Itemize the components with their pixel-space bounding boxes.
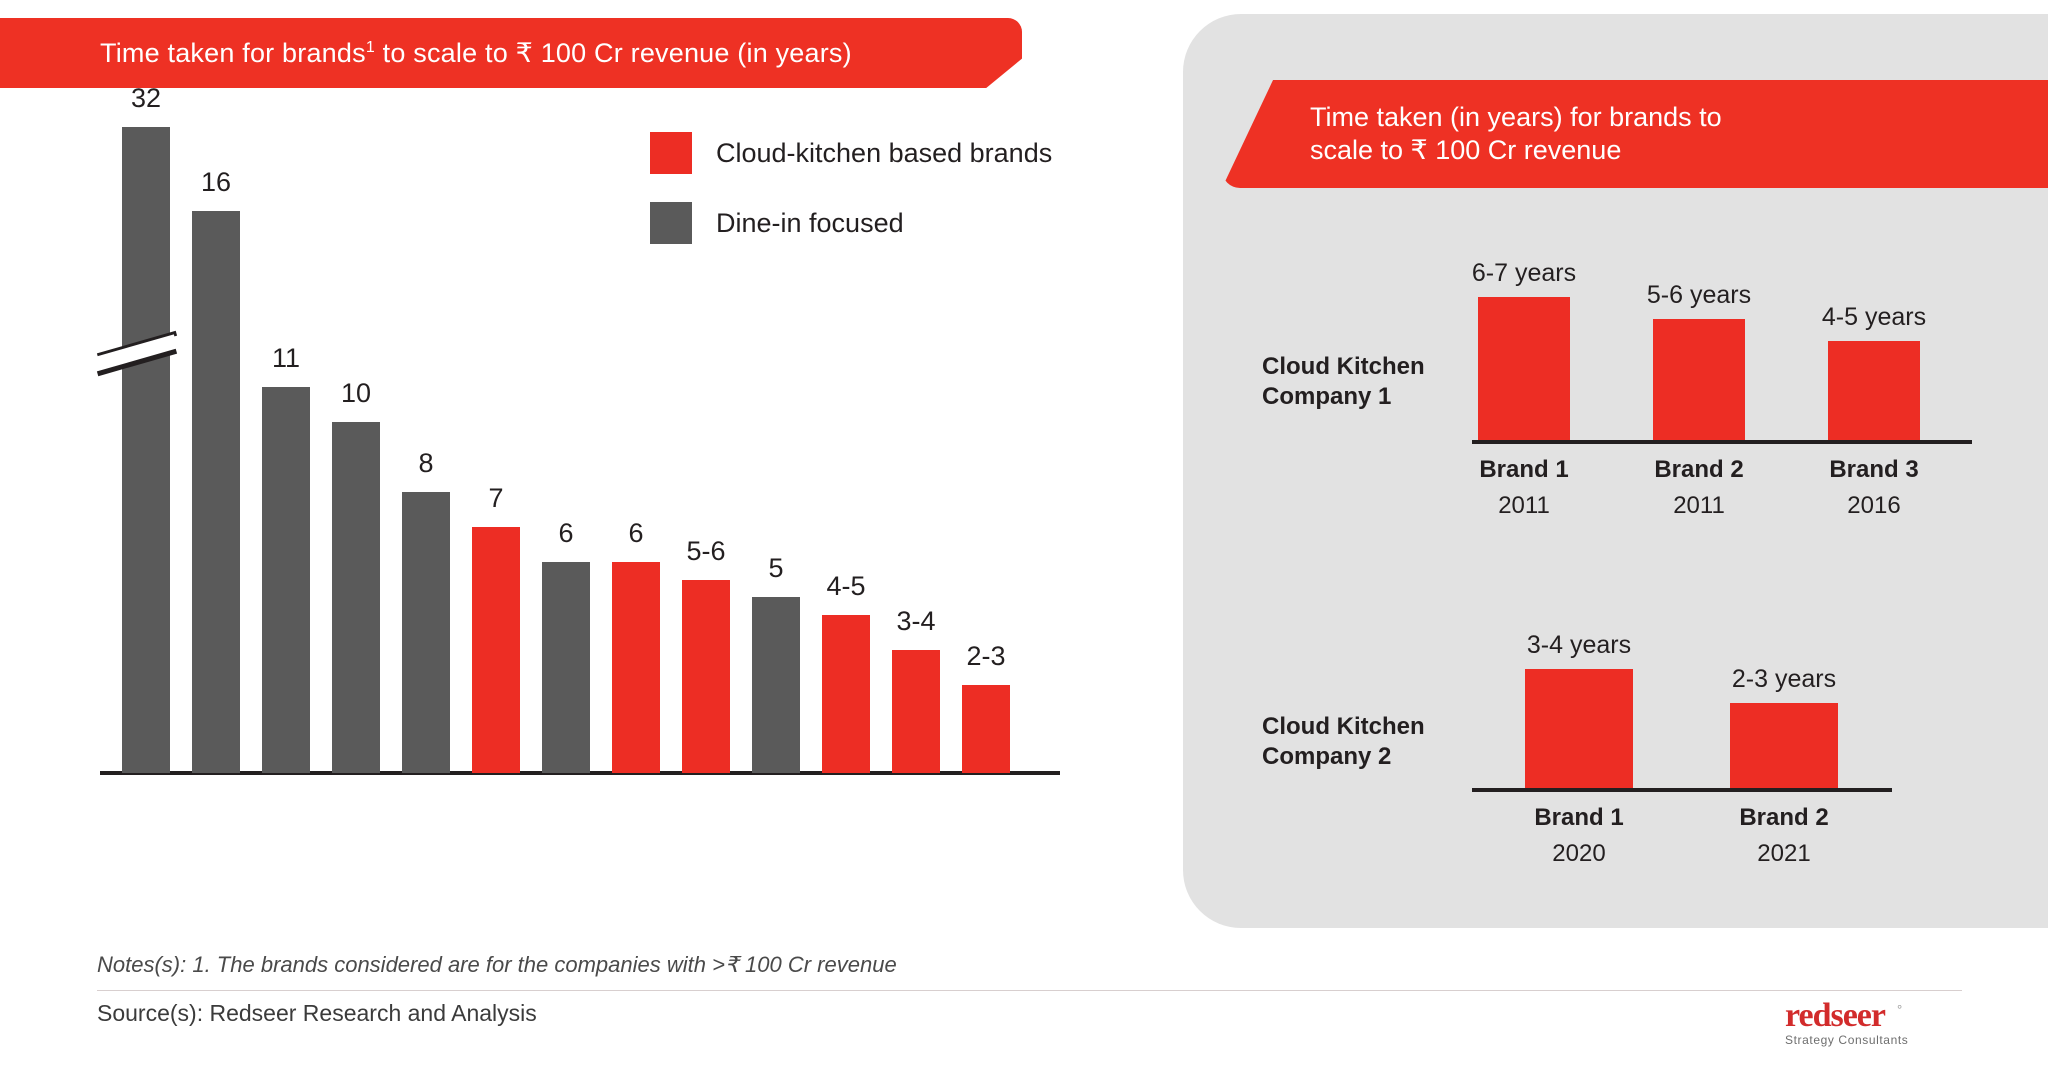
- bar-value-label: 5: [768, 553, 783, 584]
- redseer-logo: redseer Strategy Consultants °: [1785, 1000, 1908, 1047]
- right-bar-value-label: 5-6 years: [1647, 281, 1751, 310]
- left-chart-bar[interactable]: 7: [472, 527, 520, 773]
- bar-fill: [752, 597, 800, 773]
- bar-value-label: 7: [488, 483, 503, 514]
- right-bar-year: 2011: [1498, 492, 1550, 520]
- right-title-banner: Time taken (in years) for brands to scal…: [1222, 80, 2048, 188]
- right-chart-bar[interactable]: [1525, 669, 1633, 788]
- bar-fill: [472, 527, 520, 773]
- axis-break-icon: [96, 320, 176, 372]
- right-bar-year: 2020: [1552, 840, 1605, 868]
- left-chart-bar[interactable]: 11: [262, 387, 310, 773]
- slide-root: Time taken for brands1 to scale to ₹ 100…: [0, 0, 2048, 1074]
- bar-fill: [122, 127, 170, 773]
- right-bar-value-label: 2-3 years: [1732, 665, 1836, 694]
- left-chart-bar[interactable]: 8: [402, 492, 450, 773]
- left-chart-bar[interactable]: 6: [612, 562, 660, 773]
- bar-value-label: 8: [418, 448, 433, 479]
- right-bar-value-label: 6-7 years: [1472, 259, 1576, 288]
- bar-value-label: 6: [558, 518, 573, 549]
- left-chart-bar[interactable]: 5: [752, 597, 800, 773]
- right-bar-year: 2021: [1757, 840, 1810, 868]
- logo-trademark-icon: °: [1897, 1002, 1902, 1017]
- bar-value-label: 4-5: [826, 571, 865, 602]
- bar-value-label: 11: [272, 343, 300, 374]
- right-bar-brand-name: Brand 2: [1654, 456, 1743, 484]
- bar-fill: [612, 562, 660, 773]
- bar-value-label: 6: [628, 518, 643, 549]
- bar-fill: [962, 685, 1010, 773]
- left-chart-title: Time taken for brands1 to scale to ₹ 100…: [0, 38, 852, 69]
- bar-fill: [262, 387, 310, 773]
- bar-fill: [892, 650, 940, 773]
- right-chart-title: Time taken (in years) for brands to scal…: [1222, 101, 1722, 167]
- left-chart-bar[interactable]: 4-5: [822, 615, 870, 773]
- logo-tagline: Strategy Consultants: [1785, 1033, 1908, 1047]
- right-chart-bar[interactable]: [1828, 341, 1920, 440]
- bar-fill: [192, 211, 240, 773]
- footer-divider: [97, 990, 1962, 991]
- left-chart-bar[interactable]: 16: [192, 211, 240, 773]
- right-bar-year: 2016: [1847, 492, 1900, 520]
- left-chart-legend: Cloud-kitchen based brandsDine-in focuse…: [650, 132, 1052, 272]
- legend-label: Cloud-kitchen based brands: [716, 138, 1052, 169]
- legend-item[interactable]: Cloud-kitchen based brands: [650, 132, 1052, 174]
- bar-value-label: 10: [341, 378, 371, 409]
- bar-value-label: 3-4: [896, 606, 935, 637]
- right-bar-brand-name: Brand 1: [1534, 804, 1623, 832]
- right-bar-brand-name: Brand 1: [1479, 456, 1568, 484]
- legend-label: Dine-in focused: [716, 208, 904, 239]
- bar-fill: [332, 422, 380, 773]
- right-group-label: Cloud Kitchen Company 2: [1262, 712, 1425, 772]
- bar-fill: [542, 562, 590, 773]
- bar-value-label: 2-3: [966, 641, 1005, 672]
- left-chart-bar[interactable]: 6: [542, 562, 590, 773]
- logo-wordmark: redseer: [1785, 1000, 1908, 1032]
- right-chart-bar[interactable]: [1730, 703, 1838, 788]
- source-text: Source(s): Redseer Research and Analysis: [97, 1000, 537, 1027]
- legend-swatch-icon: [650, 202, 692, 244]
- left-chart-bar[interactable]: 2-3: [962, 685, 1010, 773]
- notes-text: Notes(s): 1. The brands considered are f…: [97, 952, 897, 978]
- left-chart-bar[interactable]: 5-6: [682, 580, 730, 773]
- left-title-post: to scale to ₹ 100 Cr revenue (in years): [375, 38, 852, 68]
- left-title-footnote-marker: 1: [366, 39, 375, 56]
- right-bar-value-label: 3-4 years: [1527, 631, 1631, 660]
- left-title-banner: Time taken for brands1 to scale to ₹ 100…: [0, 18, 1022, 88]
- bar-fill: [402, 492, 450, 773]
- right-chart-bar[interactable]: [1653, 319, 1745, 440]
- legend-item[interactable]: Dine-in focused: [650, 202, 1052, 244]
- left-chart-bar[interactable]: 10: [332, 422, 380, 773]
- left-title-pre: Time taken for brands: [100, 38, 366, 68]
- right-bar-value-label: 4-5 years: [1822, 303, 1926, 332]
- bar-value-label: 5-6: [686, 536, 725, 567]
- right-chart-bar[interactable]: [1478, 297, 1570, 440]
- bar-value-label: 32: [131, 83, 161, 114]
- right-group-label: Cloud Kitchen Company 1: [1262, 352, 1425, 412]
- bar-fill: [682, 580, 730, 773]
- bar-fill: [822, 615, 870, 773]
- bar-value-label: 16: [201, 167, 231, 198]
- right-group-baseline: [1472, 440, 1972, 444]
- left-chart-bar[interactable]: 32: [122, 127, 170, 773]
- legend-swatch-icon: [650, 132, 692, 174]
- right-bar-brand-name: Brand 3: [1829, 456, 1918, 484]
- right-bar-brand-name: Brand 2: [1739, 804, 1828, 832]
- right-group-baseline: [1472, 788, 1892, 792]
- left-chart-bar[interactable]: 3-4: [892, 650, 940, 773]
- right-bar-year: 2011: [1673, 492, 1725, 520]
